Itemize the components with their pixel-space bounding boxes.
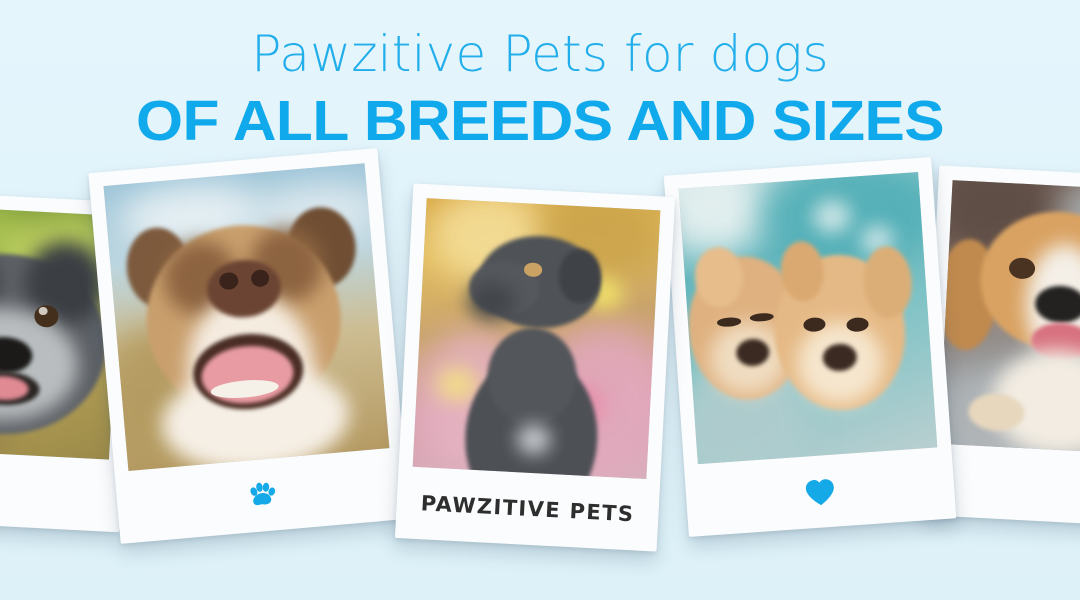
paw-print-icon (246, 480, 278, 511)
heart-icon (803, 476, 837, 507)
photo-chihuahuas (679, 172, 938, 464)
caption-zone-terrier (0, 448, 109, 532)
caption-zone-cane-corso: PAWZITIVE PETS (409, 467, 646, 551)
promo-banner: Pawzitive Pets for dogs OF ALL BREEDS AN… (0, 0, 1080, 600)
polaroid-card-chihuahuas[interactable] (664, 157, 957, 537)
headline-line-1: Pawzitive Pets for dogs (0, 29, 1080, 79)
photo-collie (104, 163, 390, 471)
photo-cane-corso (413, 198, 661, 479)
photo-beagle (939, 180, 1080, 456)
headline-line-2: OF ALL BREEDS AND SIZES (0, 93, 1080, 150)
caption-text-cane-corso: PAWZITIVE PETS (420, 491, 635, 526)
caption-zone-beagle (935, 444, 1080, 528)
polaroid-card-collie[interactable] (88, 148, 409, 544)
headline-block: Pawzitive Pets for dogs OF ALL BREEDS AN… (0, 0, 1080, 150)
polaroid-card-cane-corso[interactable]: PAWZITIVE PETS (395, 183, 675, 551)
